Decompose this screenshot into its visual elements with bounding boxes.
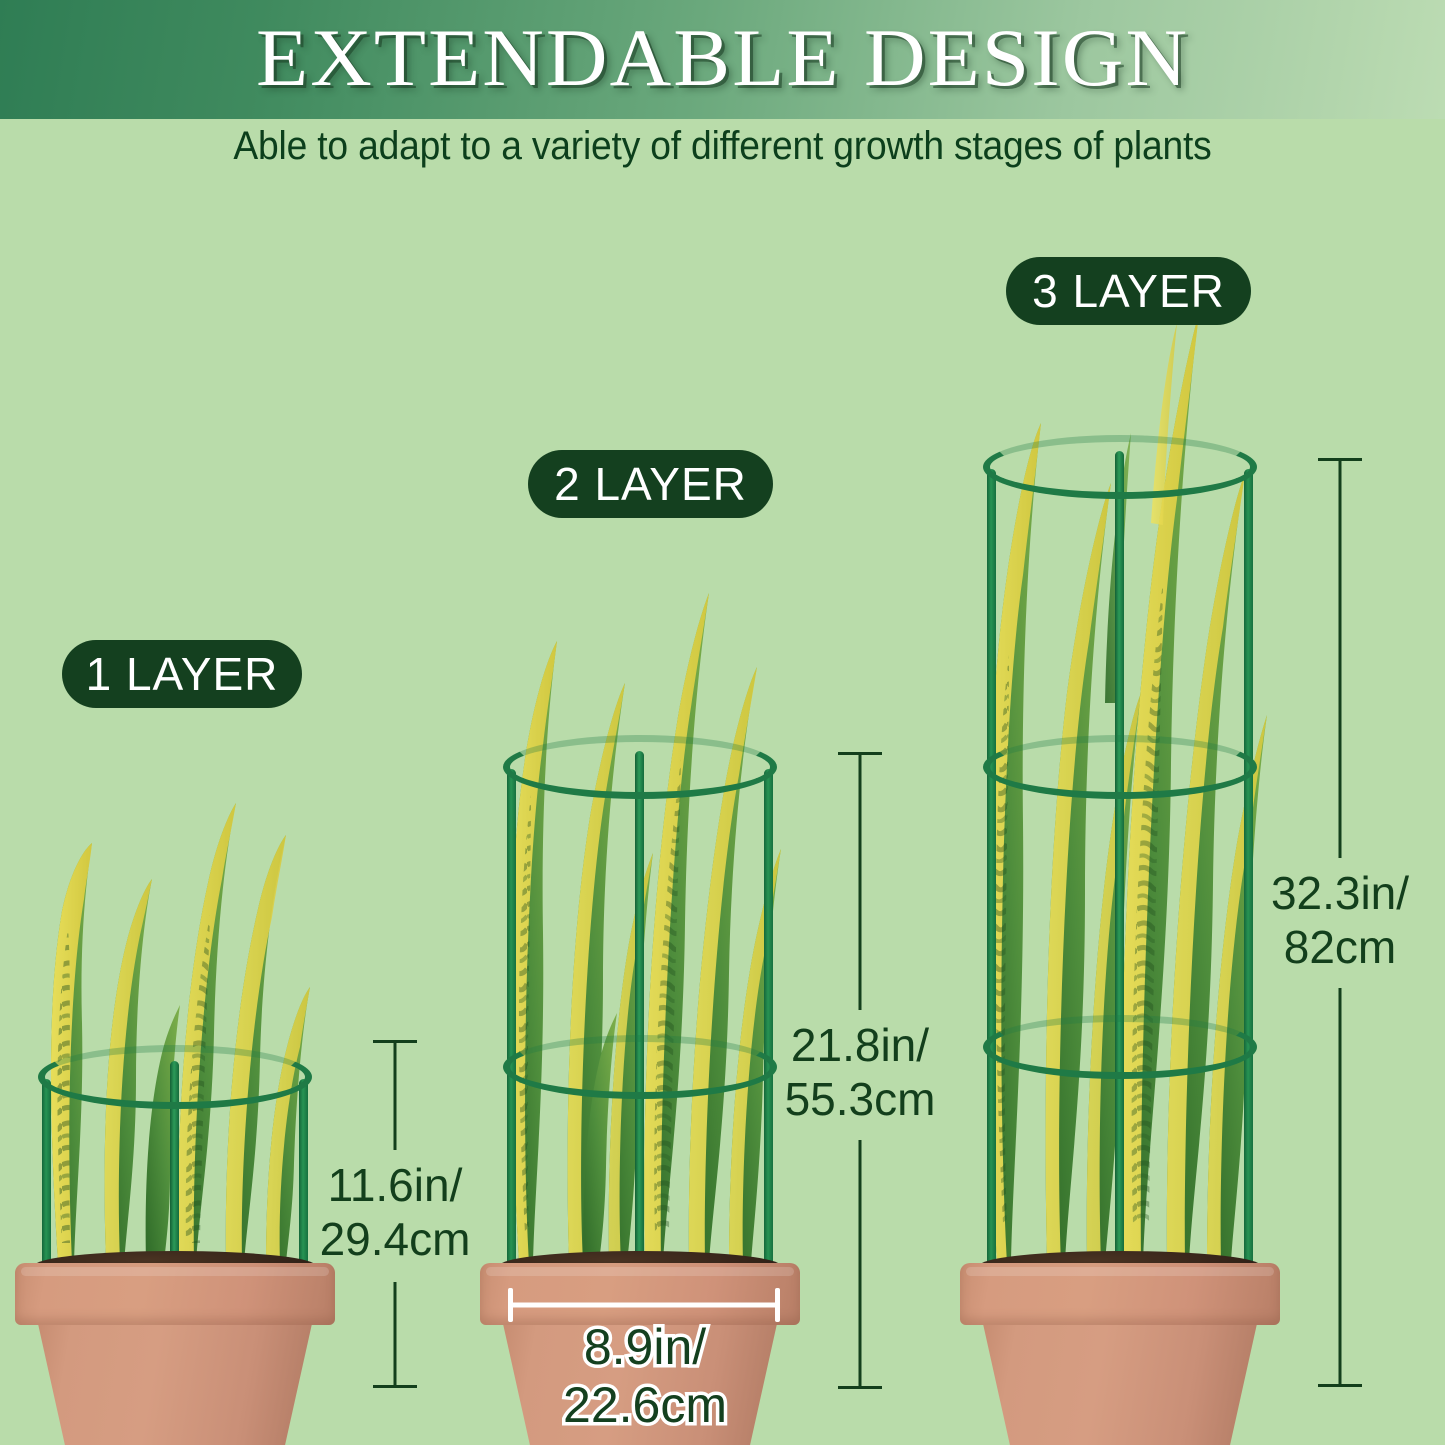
dimension-line-lower	[859, 1140, 862, 1388]
cage-rod-center	[635, 751, 644, 1279]
dimension-line-horizontal	[508, 1303, 780, 1308]
cage-ring	[38, 1045, 312, 1109]
dimension-line-upper	[394, 1040, 397, 1150]
badge-2-layer-label: 2 LAYER	[554, 457, 747, 511]
badge-2-layer: 2 LAYER	[528, 450, 773, 518]
badge-3-layer: 3 LAYER	[1006, 257, 1251, 325]
cage-rod	[299, 1079, 308, 1279]
cage-rod	[42, 1079, 51, 1279]
pot-rim	[15, 1263, 335, 1325]
dimension-cap-bottom	[838, 1386, 882, 1389]
terracotta-pot	[960, 1263, 1280, 1445]
pot-body	[37, 1321, 312, 1445]
pot-body	[982, 1321, 1257, 1445]
width-dimension-2-layer	[508, 1288, 780, 1322]
product-1-layer	[10, 705, 340, 1445]
dimension-line-lower	[394, 1282, 397, 1387]
plant-cage-1-layer	[38, 1027, 312, 1277]
height-dimension-3-layer: 32.3in/ 82cm	[1280, 458, 1400, 1390]
cage-ring	[983, 735, 1257, 799]
cage-rod	[1244, 469, 1253, 1279]
product-2-layer	[475, 385, 805, 1445]
dimension-label-2-layer: 21.8in/ 55.3cm	[785, 1018, 936, 1127]
dimension-line-lower	[1339, 988, 1342, 1386]
dimension-cap-bottom	[373, 1385, 417, 1388]
dimension-label-1-layer: 11.6in/ 29.4cm	[320, 1158, 471, 1267]
plant-cage-3-layer	[983, 417, 1257, 1277]
plant-cage-2-layer	[503, 717, 777, 1277]
cage-ring	[983, 1015, 1257, 1079]
cage-rod	[764, 769, 773, 1279]
cage-ring	[983, 435, 1257, 499]
cage-ring	[503, 1035, 777, 1099]
width-dimension-label-2-layer: 8.9in/ 22.6cm	[500, 1318, 790, 1434]
badge-1-layer: 1 LAYER	[62, 640, 302, 708]
dimension-line-upper	[1339, 458, 1342, 858]
product-3-layer	[955, 175, 1285, 1445]
pot-rim	[960, 1263, 1280, 1325]
height-dimension-1-layer: 11.6in/ 29.4cm	[335, 1040, 455, 1390]
product-comparison-scene: 1 LAYER 11.6in/ 29.4cm	[0, 0, 1445, 1445]
cage-rod-center	[1115, 451, 1124, 1279]
cage-rod	[507, 769, 516, 1279]
dimension-label-3-layer: 32.3in/ 82cm	[1271, 866, 1409, 975]
dimension-line-upper	[859, 752, 862, 1010]
cage-ring	[503, 735, 777, 799]
badge-1-layer-label: 1 LAYER	[86, 647, 279, 701]
terracotta-pot	[15, 1263, 335, 1445]
dimension-cap-right	[775, 1288, 780, 1322]
dimension-cap-left	[508, 1288, 513, 1322]
dimension-cap-bottom	[1318, 1384, 1362, 1387]
badge-3-layer-label: 3 LAYER	[1032, 264, 1225, 318]
cage-rod	[987, 469, 996, 1279]
height-dimension-2-layer: 21.8in/ 55.3cm	[800, 752, 920, 1390]
